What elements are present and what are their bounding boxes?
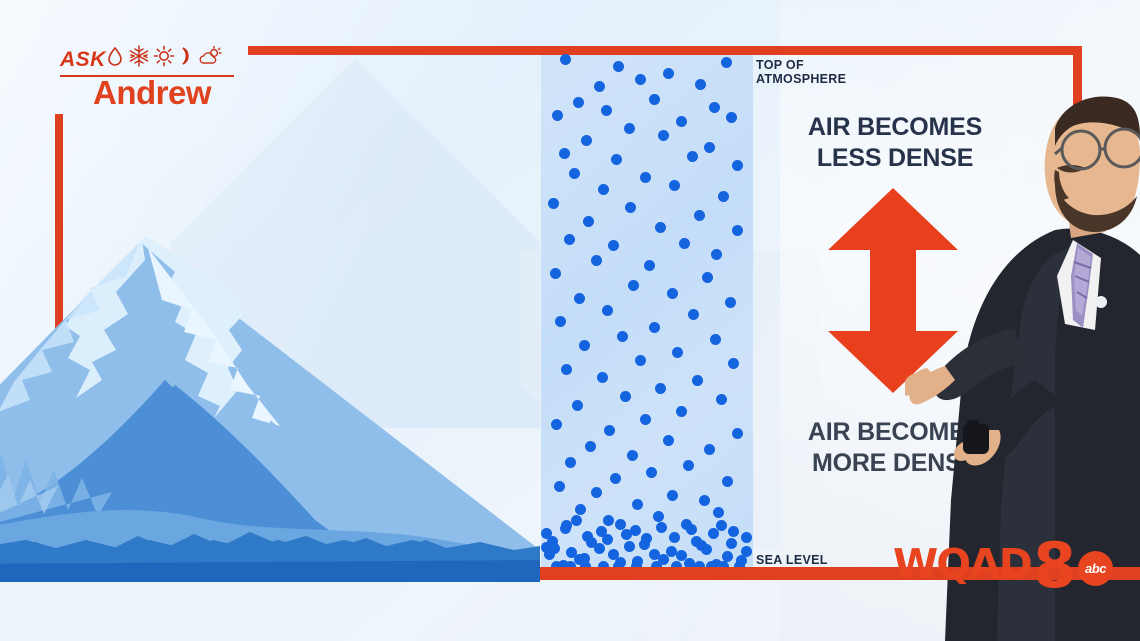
air-molecule-dot <box>691 536 702 547</box>
air-molecule-dot <box>564 234 575 245</box>
air-molecule-dot <box>687 151 698 162</box>
air-molecule-dot <box>585 441 596 452</box>
air-molecule-dot <box>644 260 655 271</box>
air-molecule-dot <box>627 450 638 461</box>
air-molecule-dot <box>632 499 643 510</box>
air-molecule-dot <box>649 94 660 105</box>
wqad-station-logo: WQAD 8 abc <box>893 534 1093 596</box>
air-molecule-dot <box>709 102 720 113</box>
air-molecule-dot <box>551 419 562 430</box>
air-molecule-dot <box>554 481 565 492</box>
air-molecule-dot <box>548 198 559 209</box>
air-molecule-dot <box>573 97 584 108</box>
air-molecule-dot <box>655 383 666 394</box>
air-molecule-dot <box>611 154 622 165</box>
air-molecule-dot <box>656 522 667 533</box>
air-molecule-dot <box>655 222 666 233</box>
logo-weather-icon-row <box>105 45 223 67</box>
logo-ask-label: ASK <box>60 48 106 72</box>
air-molecule-dot <box>721 57 732 68</box>
air-molecule-dot <box>617 331 628 342</box>
air-molecule-dot <box>741 546 752 557</box>
air-molecule-dot <box>613 61 624 72</box>
air-molecule-dot <box>669 180 680 191</box>
air-molecule-dot <box>688 309 699 320</box>
air-molecule-dot <box>640 414 651 425</box>
air-molecule-dot <box>610 473 621 484</box>
air-molecule-dot <box>726 538 737 549</box>
air-molecule-dot <box>579 340 590 351</box>
top-of-atmosphere-line1: TOP OF <box>756 58 846 72</box>
air-molecule-dot <box>716 394 727 405</box>
air-molecule-dot <box>710 334 721 345</box>
air-molecule-dot <box>699 495 710 506</box>
raindrop-icon <box>105 45 125 67</box>
air-molecule-dot <box>653 511 664 522</box>
air-molecule-dot <box>625 202 636 213</box>
air-molecule-dot <box>604 425 615 436</box>
air-molecule-dot <box>646 467 657 478</box>
air-molecule-dot <box>683 460 694 471</box>
snow-capped-mountain-illustration <box>0 230 540 580</box>
air-molecule-dot <box>718 191 729 202</box>
air-molecule-dot <box>608 240 619 251</box>
abc-network-badge: abc <box>1078 551 1113 586</box>
atmosphere-column <box>541 55 753 567</box>
air-molecule-dot <box>711 249 722 260</box>
air-molecule-dot <box>594 81 605 92</box>
air-molecule-dot <box>732 225 743 236</box>
air-molecule-dot <box>726 112 737 123</box>
air-molecule-dot <box>640 172 651 183</box>
air-molecule-dot <box>639 539 650 550</box>
air-molecule-dot <box>672 347 683 358</box>
mountain-foreground-base <box>0 540 540 641</box>
air-molecule-dot <box>732 428 743 439</box>
wqad-channel-number: 8 <box>1033 529 1076 602</box>
air-molecule-dot <box>560 54 571 65</box>
air-molecule-dot <box>569 168 580 179</box>
air-molecule-dot <box>582 531 593 542</box>
air-molecule-dot <box>741 532 752 543</box>
air-molecule-dot <box>591 487 602 498</box>
air-molecule-dot <box>555 316 566 327</box>
air-molecule-dot <box>624 541 635 552</box>
air-molecule-dot <box>716 520 727 531</box>
air-molecule-dot <box>552 110 563 121</box>
air-molecule-dot <box>649 322 660 333</box>
air-molecule-dot <box>722 551 733 562</box>
air-molecule-dot <box>628 280 639 291</box>
air-molecule-dot <box>581 135 592 146</box>
frame-top-bar <box>248 46 1082 55</box>
air-molecule-dot <box>658 130 669 141</box>
air-molecule-dot <box>574 293 585 304</box>
ask-andrew-logo: ASK <box>55 44 245 106</box>
air-molecule-dot <box>583 216 594 227</box>
logo-andrew-label: Andrew <box>93 74 211 112</box>
air-molecule-dot <box>676 406 687 417</box>
air-molecule-dot <box>635 74 646 85</box>
air-molecule-dot <box>704 142 715 153</box>
air-molecule-dot <box>572 400 583 411</box>
air-molecule-dot <box>676 116 687 127</box>
air-molecule-dot <box>566 547 577 558</box>
air-molecule-dot <box>728 526 739 537</box>
air-molecule-dot <box>713 507 724 518</box>
air-molecule-dot <box>704 444 715 455</box>
air-molecule-dot <box>728 358 739 369</box>
air-molecule-dot <box>630 525 641 536</box>
top-of-atmosphere-label: TOP OF ATMOSPHERE <box>756 58 846 86</box>
air-molecule-dot <box>679 238 690 249</box>
air-molecule-dot <box>732 160 743 171</box>
air-molecule-dot <box>541 528 552 539</box>
air-molecule-dot <box>598 184 609 195</box>
air-molecule-dot <box>676 550 687 561</box>
air-molecule-dot <box>663 68 674 79</box>
air-molecule-dot <box>701 544 712 555</box>
air-molecule-dot <box>669 532 680 543</box>
air-molecule-dot <box>565 457 576 468</box>
wqad-callsign: WQAD <box>893 540 1031 588</box>
air-molecule-dot <box>602 305 613 316</box>
air-molecule-dot <box>620 391 631 402</box>
air-molecule-dot <box>692 375 703 386</box>
air-molecule-dot <box>695 79 706 90</box>
top-of-atmosphere-line2: ATMOSPHERE <box>756 72 846 86</box>
air-molecule-dot <box>722 476 733 487</box>
air-molecule-dot <box>635 355 646 366</box>
air-molecule-dot <box>601 105 612 116</box>
air-molecule-dot <box>596 526 607 537</box>
air-molecule-dot <box>725 297 736 308</box>
air-molecule-dot <box>667 490 678 501</box>
air-molecule-dot <box>686 524 697 535</box>
moon-icon <box>178 45 196 67</box>
air-molecule-dot <box>550 268 561 279</box>
air-molecule-dot <box>667 288 678 299</box>
air-molecule-dot <box>603 515 614 526</box>
air-molecule-dot <box>559 148 570 159</box>
broadcast-weather-graphic: ASK <box>0 0 1140 641</box>
sun-icon <box>153 45 175 67</box>
air-molecule-dot <box>541 542 552 553</box>
air-molecule-dot <box>615 519 626 530</box>
air-molecule-dot <box>594 543 605 554</box>
air-molecule-dot <box>561 364 572 375</box>
column-sheen <box>541 55 753 567</box>
air-molecule-dot <box>694 210 705 221</box>
air-molecule-dot <box>575 504 586 515</box>
air-molecule-dot <box>663 435 674 446</box>
air-molecule-dot <box>561 520 572 531</box>
air-molecule-dot <box>597 372 608 383</box>
sun-cloud-icon <box>199 45 223 67</box>
air-molecule-dot <box>591 255 602 266</box>
sea-level-label: SEA LEVEL <box>756 553 828 567</box>
snowflake-icon <box>128 45 150 67</box>
air-molecule-dot <box>571 515 582 526</box>
air-molecule-dot <box>702 272 713 283</box>
air-molecule-dot <box>624 123 635 134</box>
